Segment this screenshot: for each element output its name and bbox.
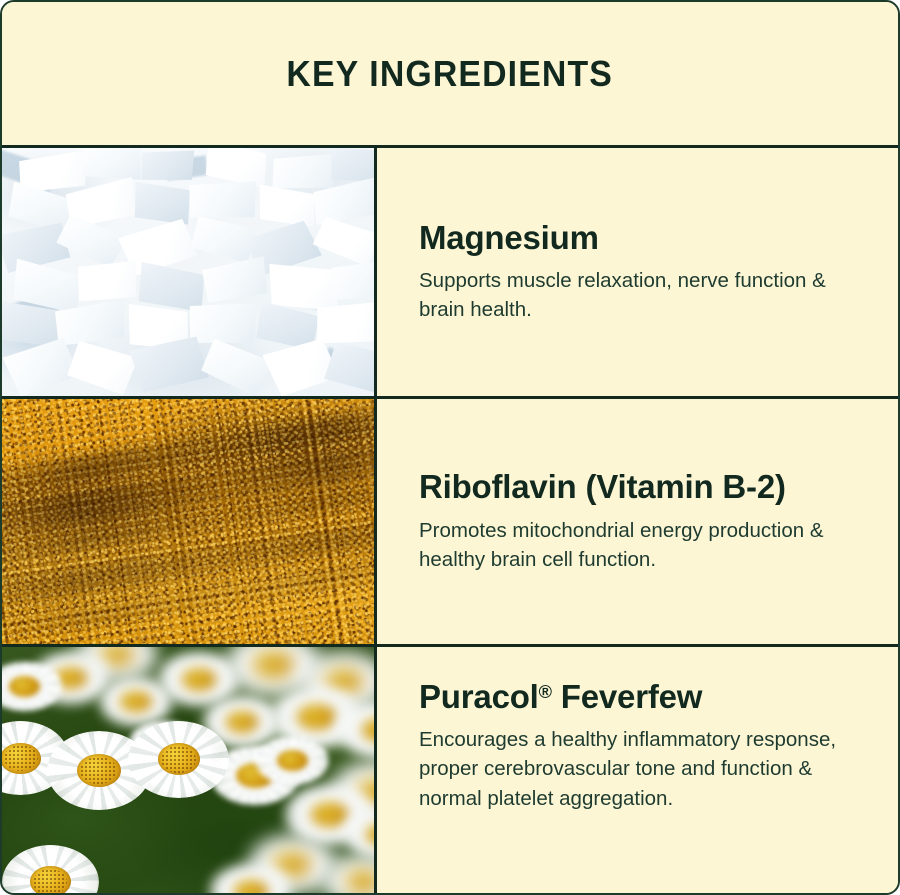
ingredient-description: Promotes mitochondrial energy production… — [419, 516, 869, 574]
ingredient-brand: Puracol — [419, 678, 539, 715]
page-title: KEY INGREDIENTS — [287, 53, 614, 95]
ingredient-row-feverfew: Puracol® Feverfew Encourages a healthy i… — [2, 647, 898, 894]
key-ingredients-card: KEY INGREDIENTS — [0, 0, 900, 895]
ingredient-name: Magnesium — [419, 220, 870, 256]
feverfew-copy: Puracol® Feverfew Encourages a healthy i… — [377, 647, 898, 894]
ingredient-description: Supports muscle relaxation, nerve functi… — [419, 266, 870, 324]
riboflavin-powder-photo — [2, 399, 377, 644]
riboflavin-powder-artwork — [2, 399, 374, 644]
magnesium-flakes-artwork — [2, 148, 374, 396]
ingredient-row-riboflavin: Riboflavin (Vitamin B-2) Promotes mitoch… — [2, 399, 898, 647]
ingredient-name: Puracol® Feverfew — [419, 679, 870, 715]
ingredient-name: Riboflavin (Vitamin B-2) — [419, 469, 870, 505]
magnesium-flakes-photo — [2, 148, 377, 396]
ingredient-name-suffix: Feverfew — [552, 678, 702, 715]
ingredient-description: Encourages a healthy inflammatory respon… — [419, 725, 870, 812]
riboflavin-copy: Riboflavin (Vitamin B-2) Promotes mitoch… — [377, 399, 898, 644]
ingredient-row-magnesium: Magnesium Supports muscle relaxation, ne… — [2, 148, 898, 399]
magnesium-copy: Magnesium Supports muscle relaxation, ne… — [377, 148, 898, 396]
registered-trademark-icon: ® — [539, 682, 552, 702]
feverfew-flowers-artwork — [2, 647, 374, 894]
feverfew-flowers-photo — [2, 647, 377, 894]
card-header: KEY INGREDIENTS — [2, 2, 898, 148]
